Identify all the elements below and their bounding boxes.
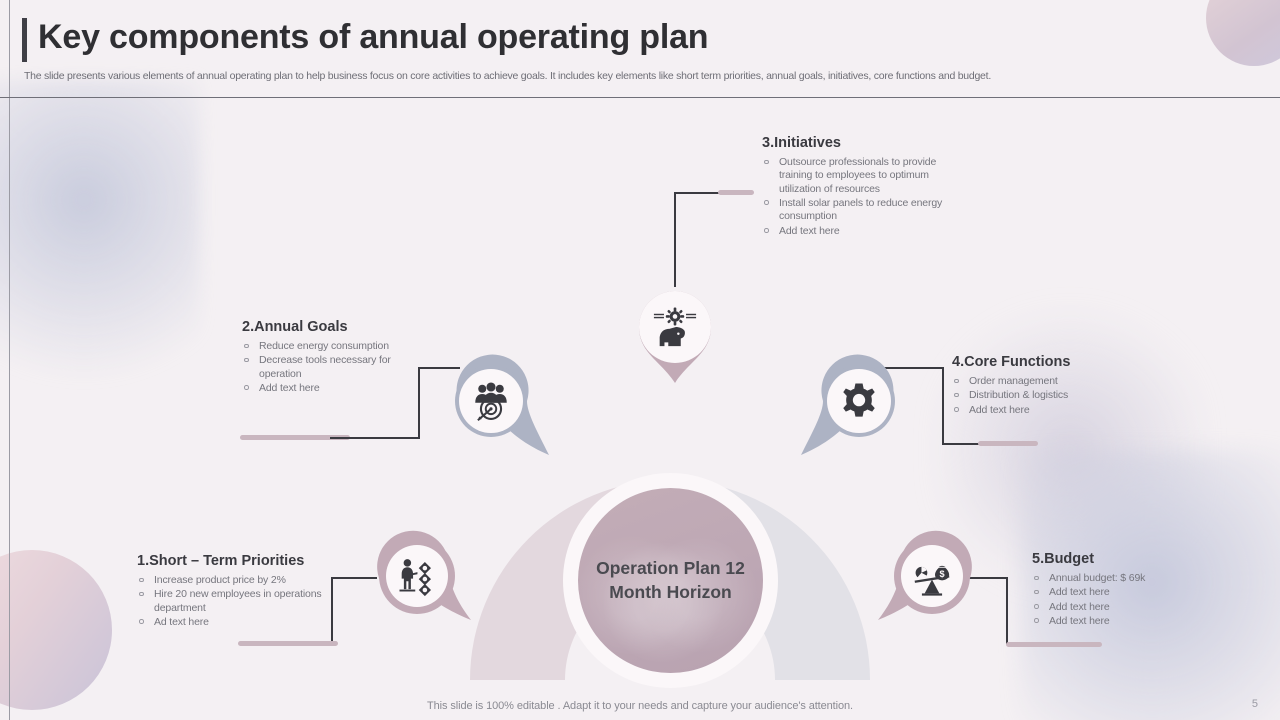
block-budget: 5.Budget Annual budget: $ 69k Add text h… <box>1032 551 1232 629</box>
list-item-text: Add text here <box>1049 615 1110 627</box>
list-item-text: Reduce energy consumption <box>259 340 389 352</box>
list-item: Install solar panels to reduce energy co… <box>762 197 972 224</box>
list-item: Order management <box>952 375 1142 388</box>
list-item: Add text here <box>1032 601 1232 614</box>
pin-initiatives[interactable] <box>621 275 729 383</box>
bullet-marker <box>139 619 144 624</box>
list-item: Hire 20 new employees in operations depa… <box>137 588 352 615</box>
list-item-text: Add text here <box>779 225 840 237</box>
list-item: Distribution & logistics <box>952 389 1142 402</box>
bullet-marker <box>954 393 959 398</box>
list-item-text: Distribution & logistics <box>969 389 1068 401</box>
list-item-text: Add text here <box>1049 586 1110 598</box>
page-number: 5 <box>1252 698 1258 710</box>
pin-face-initiatives <box>639 291 711 363</box>
list-item-text: Order management <box>969 375 1058 387</box>
bullet-marker <box>764 200 769 205</box>
block-initiatives: 3.Initiatives Outsource professionals to… <box>762 135 972 239</box>
list-item: Add text here <box>952 404 1142 417</box>
pin-face-annual-goals <box>459 369 523 433</box>
balance-scale-money-icon: $ <box>910 554 954 598</box>
bullet-marker <box>1034 604 1039 609</box>
list-item-text: Hire 20 new employees in operations depa… <box>154 588 322 613</box>
list-item-text: Add text here <box>969 404 1030 416</box>
list-item-text: Outsource professionals to provide train… <box>779 156 936 195</box>
block-list-initiatives: Outsource professionals to provide train… <box>762 156 972 238</box>
list-item-text: Add text here <box>259 382 320 394</box>
center-circle: Operation Plan 12 Month Horizon <box>578 488 763 673</box>
bullet-marker <box>954 379 959 384</box>
gear-icon <box>839 381 879 421</box>
head-gear-icon <box>652 304 698 350</box>
block-heading-priorities: 1.Short – Term Priorities <box>137 553 352 569</box>
block-heading-budget: 5.Budget <box>1032 551 1232 567</box>
list-item-text: Increase product price by 2% <box>154 574 286 586</box>
list-item: Increase product price by 2% <box>137 574 352 587</box>
list-item-text: Decrease tools necessary for operation <box>259 354 391 379</box>
block-heading-annual-goals: 2.Annual Goals <box>242 319 422 335</box>
block-list-annual-goals: Reduce energy consumption Decrease tools… <box>242 340 422 395</box>
bullet-marker <box>139 592 144 597</box>
person-priorities-icon <box>396 555 438 597</box>
bullet-marker <box>244 344 249 349</box>
team-target-icon <box>470 380 512 422</box>
pin-short-term-priorities[interactable] <box>365 524 473 632</box>
footer-note: This slide is 100% editable . Adapt it t… <box>0 700 1280 712</box>
pin-face-priorities <box>386 545 448 607</box>
block-heading-core-functions: 4.Core Functions <box>952 354 1142 370</box>
list-item: Add text here <box>1032 586 1232 599</box>
list-item: Reduce energy consumption <box>242 340 422 353</box>
list-item: Add text here <box>1032 615 1232 628</box>
pin-face-budget: $ <box>901 545 963 607</box>
bullet-marker <box>139 578 144 583</box>
bullet-marker <box>764 160 769 165</box>
pin-annual-goals[interactable] <box>441 347 549 455</box>
pin-core-functions[interactable] <box>797 347 905 455</box>
pin-budget[interactable]: $ <box>874 524 982 632</box>
block-core-functions: 4.Core Functions Order management Distri… <box>952 354 1142 418</box>
bullet-marker <box>764 228 769 233</box>
list-item-text: Ad text here <box>154 616 209 628</box>
block-list-budget: Annual budget: $ 69k Add text here Add t… <box>1032 572 1232 628</box>
list-item-text: Annual budget: $ 69k <box>1049 572 1145 584</box>
list-item-text: Add text here <box>1049 601 1110 613</box>
list-item-text: Install solar panels to reduce energy co… <box>779 197 942 222</box>
svg-text:$: $ <box>940 569 945 579</box>
list-item: Decrease tools necessary for operation <box>242 354 422 381</box>
bullet-marker <box>1034 590 1039 595</box>
block-list-core-functions: Order management Distribution & logistic… <box>952 375 1142 417</box>
bullet-marker <box>954 407 959 412</box>
bullet-marker <box>1034 618 1039 623</box>
bullet-marker <box>244 358 249 363</box>
center-label: Operation Plan 12 Month Horizon <box>596 557 745 604</box>
block-heading-initiatives: 3.Initiatives <box>762 135 972 151</box>
block-list-priorities: Increase product price by 2% Hire 20 new… <box>137 574 352 629</box>
bullet-marker <box>1034 576 1039 581</box>
bullet-marker <box>244 385 249 390</box>
list-item: Add text here <box>762 225 972 238</box>
list-item: Outsource professionals to provide train… <box>762 156 972 196</box>
block-annual-goals: 2.Annual Goals Reduce energy consumption… <box>242 319 422 396</box>
list-item: Ad text here <box>137 616 352 629</box>
list-item: Add text here <box>242 382 422 395</box>
list-item: Annual budget: $ 69k <box>1032 572 1232 585</box>
block-short-term-priorities: 1.Short – Term Priorities Increase produ… <box>137 553 352 630</box>
pin-face-core-functions <box>827 369 891 433</box>
